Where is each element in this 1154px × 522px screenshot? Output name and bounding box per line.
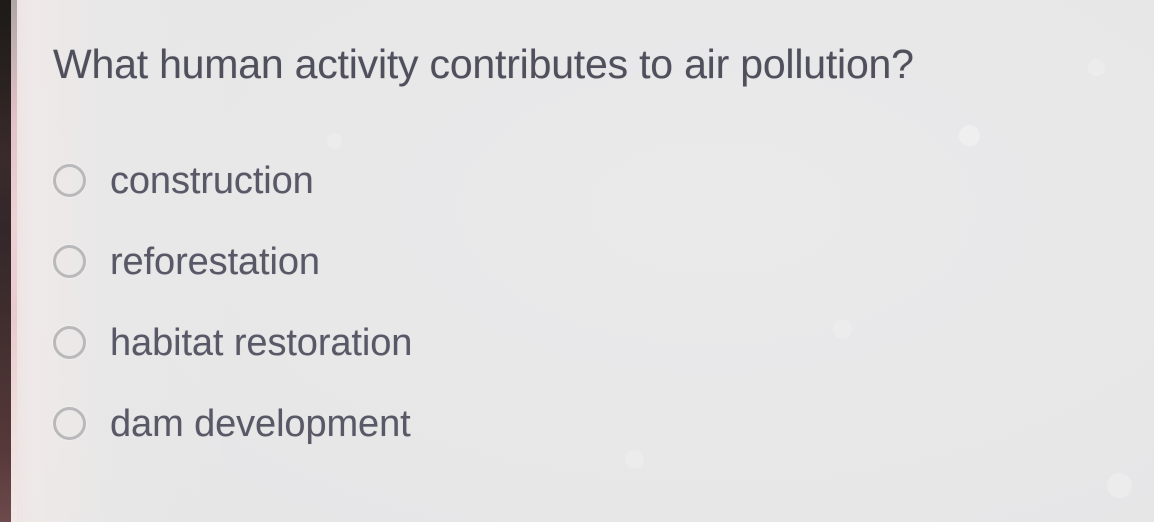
question-text: What human activity contributes to air p… xyxy=(53,39,914,89)
radio-unselected-icon[interactable] xyxy=(53,245,86,278)
option-row-habitat-restoration[interactable]: habitat restoration xyxy=(53,302,753,383)
quiz-content: What human activity contributes to air p… xyxy=(0,0,1154,522)
radio-unselected-icon[interactable] xyxy=(53,164,86,197)
option-row-reforestation[interactable]: reforestation xyxy=(53,221,753,302)
option-label-construction: construction xyxy=(110,159,314,203)
option-label-reforestation: reforestation xyxy=(110,240,320,284)
option-label-habitat-restoration: habitat restoration xyxy=(110,321,412,365)
option-label-dam-development: dam development xyxy=(110,402,411,446)
option-row-construction[interactable]: construction xyxy=(53,140,753,221)
radio-unselected-icon[interactable] xyxy=(53,326,86,359)
quiz-screenshot: What human activity contributes to air p… xyxy=(0,0,1154,522)
radio-unselected-icon[interactable] xyxy=(53,407,86,440)
option-row-dam-development[interactable]: dam development xyxy=(53,383,753,464)
answer-options-list: construction reforestation habitat resto… xyxy=(53,140,753,464)
